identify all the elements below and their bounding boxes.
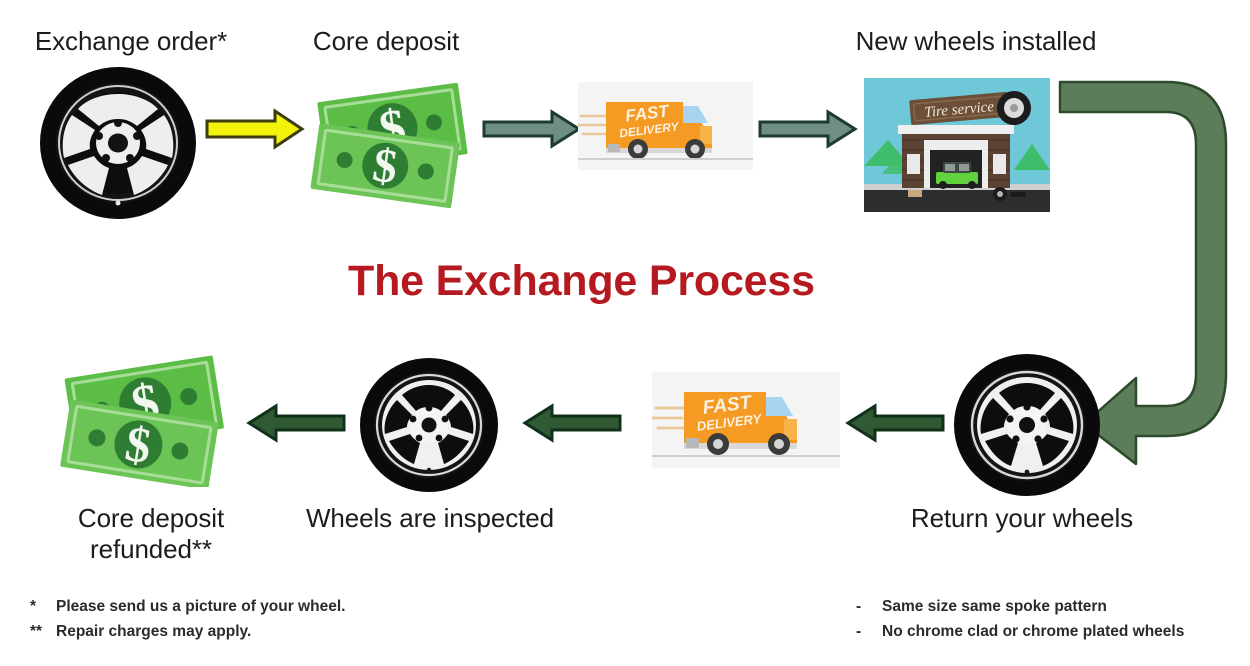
arrow-return-to-truck <box>845 402 945 444</box>
step-label-core-deposit: Core deposit <box>270 26 502 57</box>
alloy-wheel-icon <box>952 352 1102 498</box>
note-marker: ** <box>30 619 56 644</box>
note-row: ** Repair charges may apply. <box>30 619 345 644</box>
note-row: - No chrome clad or chrome plated wheels <box>856 619 1184 644</box>
exchange-process-diagram: Exchange order* Core deposit New wheels … <box>0 0 1250 666</box>
step-label-new-wheels-installed: New wheels installed <box>800 26 1152 57</box>
arrow-order-to-deposit <box>205 108 305 150</box>
note-text: Please send us a picture of your wheel. <box>56 594 345 619</box>
arrow-truck-to-inspected <box>522 402 622 444</box>
dollar-bills-icon: $ $ <box>58 352 238 487</box>
note-marker: - <box>856 619 882 644</box>
step-label-return-your-wheels: Return your wheels <box>888 503 1156 534</box>
arrow-truck-to-shop <box>758 108 858 150</box>
note-row: - Same size same spoke pattern <box>856 594 1184 619</box>
step-label-core-deposit-refunded: Core deposit refunded** <box>26 503 276 564</box>
note-text: Same size same spoke pattern <box>882 594 1107 619</box>
note-text: Repair charges may apply. <box>56 619 251 644</box>
step-label-exchange-order: Exchange order* <box>0 26 262 57</box>
note-row: * Please send us a picture of your wheel… <box>30 594 345 619</box>
notes-left: * Please send us a picture of your wheel… <box>30 594 345 644</box>
tire-service-shop-icon: Tire service <box>864 78 1050 212</box>
page-title: The Exchange Process <box>348 257 815 306</box>
arrow-deposit-to-truck <box>482 108 582 150</box>
note-marker: - <box>856 594 882 619</box>
alloy-wheel-icon <box>38 66 198 221</box>
note-text: No chrome clad or chrome plated wheels <box>882 619 1184 644</box>
arrow-inspected-to-refund <box>246 402 346 444</box>
note-marker: * <box>30 594 56 619</box>
alloy-wheel-icon <box>358 356 500 494</box>
fast-delivery-truck-icon: FAST DELIVERY <box>652 372 840 468</box>
fast-delivery-truck-icon: FAST DELIVERY <box>578 82 753 170</box>
notes-right: - Same size same spoke pattern - No chro… <box>856 594 1184 644</box>
step-label-wheels-inspected: Wheels are inspected <box>296 503 564 534</box>
dollar-bills-icon: $ $ <box>308 76 480 208</box>
